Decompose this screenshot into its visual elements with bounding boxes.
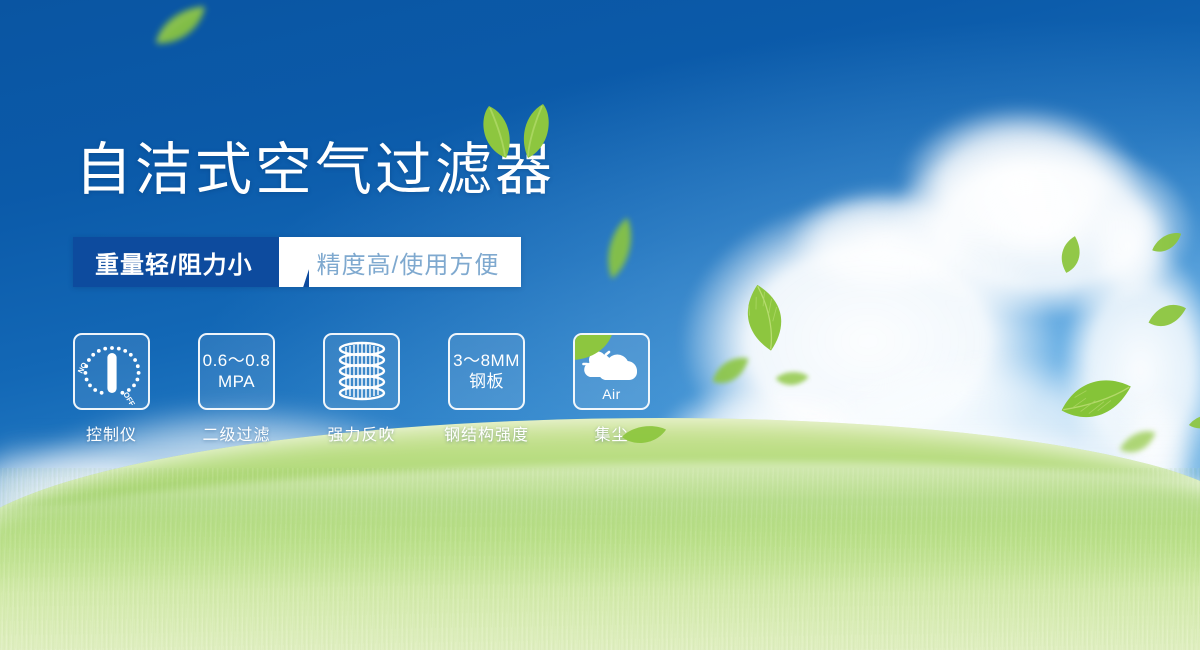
feature-item-steel-strength[interactable]: 3〜8MM 钢板 钢结构强度 xyxy=(448,333,525,445)
pressure-line-2: MPA xyxy=(218,372,255,392)
subtitle-right: 精度高/使用方便 xyxy=(309,237,522,287)
leaf-icon xyxy=(144,0,219,59)
feature-item-dust-collection[interactable]: Air 集尘 xyxy=(573,333,650,445)
sprout-leaves-icon xyxy=(473,104,559,160)
leaf-icon xyxy=(707,350,756,393)
leaf-icon xyxy=(573,333,617,363)
leaf-icon xyxy=(1116,426,1161,460)
feature-item-strong-backblow[interactable]: 强力反吹 xyxy=(323,333,400,445)
steel-line-2: 钢板 xyxy=(469,372,504,392)
leaf-icon xyxy=(726,278,803,356)
air-filter-banner: 自洁式空气过滤器 重量轻/阻力小 精度高/使用方便 xyxy=(0,0,1200,650)
feature-label: 控制仪 xyxy=(86,421,137,445)
feature-list: NO OFF 控制仪 0.6〜0.8 MPA 二级过滤 xyxy=(73,333,650,445)
air-label: Air xyxy=(602,386,621,403)
cloud-right-top xyxy=(760,80,1180,310)
subtitle-left: 重量轻/阻力小 xyxy=(73,237,279,287)
leaf-icon xyxy=(774,366,811,393)
cloud-sun-icon: Air xyxy=(573,333,650,410)
feature-item-controller[interactable]: NO OFF 控制仪 xyxy=(73,333,150,445)
leaf-icon xyxy=(1049,233,1093,276)
leaf-icon xyxy=(1146,293,1189,339)
leaf-icon xyxy=(1057,362,1135,435)
feature-label: 二级过滤 xyxy=(202,421,270,445)
pressure-line-1: 0.6〜0.8 xyxy=(203,351,271,371)
steel-line-1: 3〜8MM xyxy=(453,351,520,371)
steel-text-icon: 3〜8MM 钢板 xyxy=(448,333,525,410)
dial-gauge-icon: NO OFF xyxy=(73,333,150,410)
leaf-icon xyxy=(1147,227,1186,258)
leaf-icon xyxy=(621,425,667,445)
svg-text:NO: NO xyxy=(77,360,89,374)
title-block: 自洁式空气过滤器 xyxy=(75,140,555,202)
leaf-icon xyxy=(1187,410,1200,433)
leaf-icon xyxy=(593,211,646,284)
feature-label: 钢结构强度 xyxy=(444,421,529,445)
subtitle-bar: 重量轻/阻力小 精度高/使用方便 xyxy=(73,237,521,287)
pressure-text-icon: 0.6〜0.8 MPA xyxy=(198,333,275,410)
feature-label: 强力反吹 xyxy=(327,421,395,445)
filter-cartridge-icon xyxy=(323,333,400,410)
feature-item-secondary-filtration[interactable]: 0.6〜0.8 MPA 二级过滤 xyxy=(198,333,275,445)
subtitle-divider xyxy=(279,237,309,287)
svg-text:OFF: OFF xyxy=(121,390,137,405)
